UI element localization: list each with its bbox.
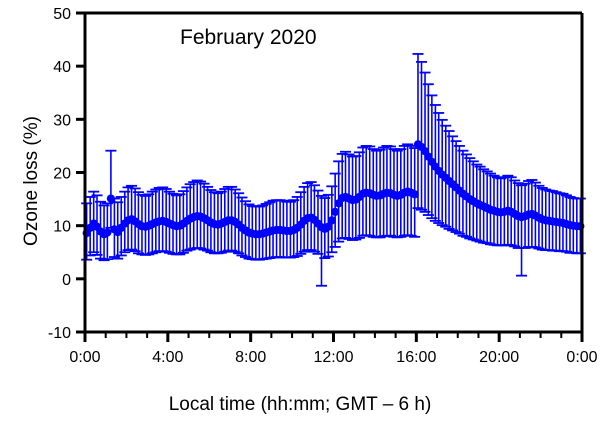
x-tick-label: 0:00 <box>566 349 597 366</box>
y-tick-label: 50 <box>53 6 71 23</box>
x-tick-label: 12:00 <box>313 349 353 366</box>
x-tick-label: 8:00 <box>235 349 266 366</box>
x-tick-label: 20:00 <box>479 349 519 366</box>
chart-figure: February 2020 Ozone loss (%) Local time … <box>0 0 600 428</box>
y-tick-label: 0 <box>62 272 71 289</box>
x-tick-label: 4:00 <box>152 349 183 366</box>
x-tick-label: 16:00 <box>396 349 436 366</box>
y-tick-label: 30 <box>53 112 71 129</box>
y-tick-label: 10 <box>53 219 71 236</box>
y-tick-label: 40 <box>53 59 71 76</box>
plot-area: -10010203040500:004:008:0012:0016:0020:0… <box>0 0 600 428</box>
errorbar-layer <box>81 54 586 286</box>
x-tick-label: 0:00 <box>69 349 100 366</box>
y-tick-label: -10 <box>48 325 71 342</box>
y-tick-label: 20 <box>53 166 71 183</box>
